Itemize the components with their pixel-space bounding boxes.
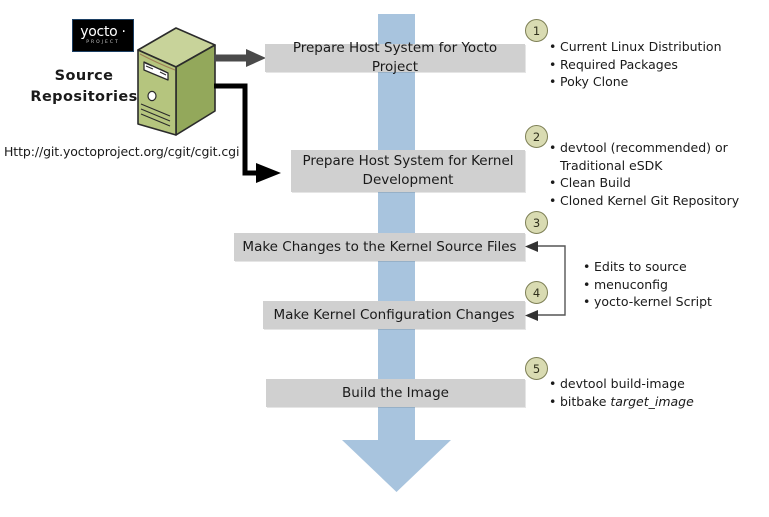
- loop-bullet-list: Edits to source menuconfig yocto-kernel …: [582, 258, 762, 311]
- list-item: Cloned Kernel Git Repository: [548, 192, 763, 210]
- step-number-2: 2: [533, 130, 540, 144]
- step-box-1-label: Prepare Host System for Yocto Project: [273, 39, 517, 77]
- step-box-5[interactable]: Build the Image: [266, 379, 525, 407]
- step-number-badge-4: 4: [525, 281, 548, 304]
- connector-source-to-step1: [214, 49, 266, 67]
- step-number-3: 3: [533, 216, 540, 230]
- step-number-badge-5: 5: [525, 357, 548, 380]
- diagram-canvas: yocto · PROJECT Source Repositories Http…: [0, 0, 769, 517]
- step-5-bullet-list: devtool build-image bitbake target_image: [548, 375, 763, 410]
- list-item: bitbake target_image: [548, 393, 763, 411]
- list-item-text: bitbake target_image: [560, 394, 694, 409]
- list-item: Clean Build: [548, 174, 763, 192]
- list-item: yocto-kernel Script: [582, 293, 762, 311]
- list-item: Edits to source: [582, 258, 762, 276]
- list-item: devtool build-image: [548, 375, 763, 393]
- step-box-3[interactable]: Make Changes to the Kernel Source Files: [234, 233, 525, 261]
- step-number-5: 5: [533, 362, 540, 376]
- list-item: Poky Clone: [548, 73, 763, 91]
- step-number-1: 1: [533, 24, 540, 38]
- step-box-2[interactable]: Prepare Host System for Kernel Developme…: [291, 150, 525, 192]
- step-number-badge-1: 1: [525, 19, 548, 42]
- step-box-3-label: Make Changes to the Kernel Source Files: [242, 238, 516, 257]
- step-number-4: 4: [533, 286, 540, 300]
- step-1-bullet-list: Current Linux Distribution Required Pack…: [548, 38, 763, 91]
- step-box-2-label: Prepare Host System for Kernel Developme…: [299, 152, 517, 190]
- source-repositories-label: Source Repositories: [10, 66, 158, 108]
- list-item-emphasis: target_image: [610, 394, 693, 409]
- step-box-4-label: Make Kernel Configuration Changes: [273, 306, 514, 325]
- logo-subtext: PROJECT: [86, 41, 119, 46]
- logo-wordmark: yocto ·: [80, 25, 125, 39]
- list-item: Required Packages: [548, 56, 763, 74]
- list-item: devtool (recommended) or Traditional eSD…: [548, 139, 763, 174]
- step-box-1[interactable]: Prepare Host System for Yocto Project: [265, 44, 525, 72]
- connector-source-to-step2: [214, 86, 281, 183]
- step-2-bullet-list: devtool (recommended) or Traditional eSD…: [548, 139, 763, 209]
- step-box-5-label: Build the Image: [342, 384, 449, 403]
- source-repositories-url: Http://git.yoctoproject.org/cgit/cgit.cg…: [4, 144, 232, 159]
- list-item: Current Linux Distribution: [548, 38, 763, 56]
- step-box-4[interactable]: Make Kernel Configuration Changes: [263, 301, 525, 329]
- step-number-badge-3: 3: [525, 211, 548, 234]
- step-number-badge-2: 2: [525, 125, 548, 148]
- list-item: menuconfig: [582, 276, 762, 294]
- yocto-project-logo: yocto · PROJECT: [72, 19, 134, 52]
